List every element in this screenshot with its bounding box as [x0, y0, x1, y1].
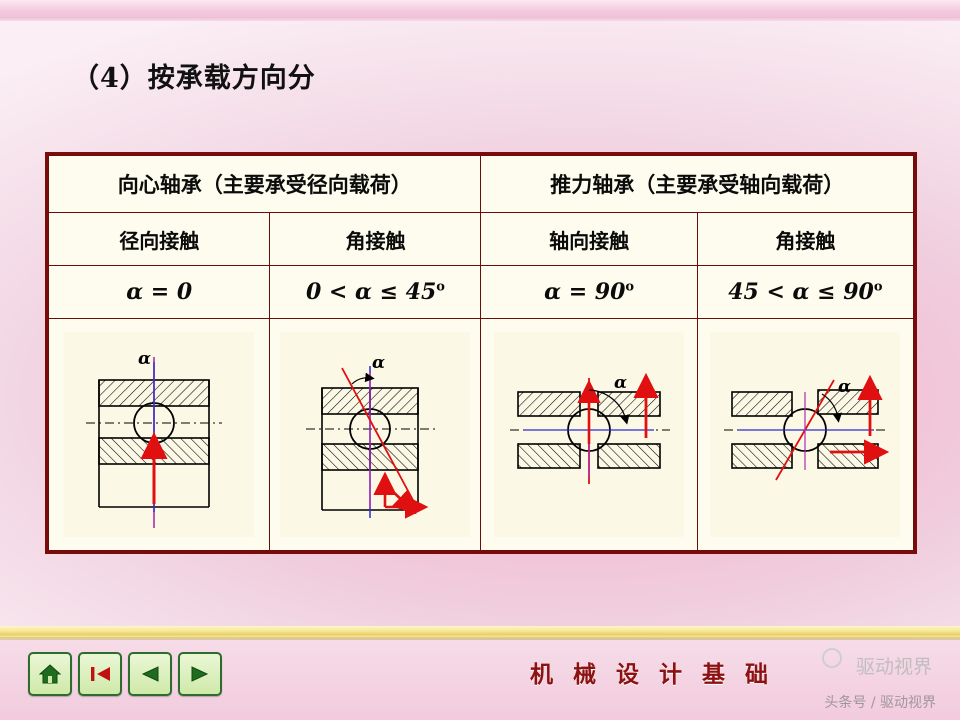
table-row-figures: α — [49, 319, 914, 551]
page-title: （4）按承载方向分 — [72, 56, 316, 95]
figure-cell-1: α — [49, 319, 270, 551]
watermark-subtitle: 头条号 / 驱动视界 — [824, 692, 936, 712]
table-row-formulas: α = 0 0 < α ≤ 45o α = 90o 45 < α ≤ 90o — [49, 266, 914, 319]
radial-contact-bearing-diagram: α — [64, 332, 254, 537]
group-header-radial: 向心轴承（主要承受径向载荷） — [49, 156, 481, 213]
contact-type-radial: 径向接触 — [49, 213, 270, 266]
first-icon — [88, 664, 112, 684]
previous-slide-button[interactable] — [128, 652, 172, 696]
next-icon — [188, 664, 212, 684]
svg-text:α: α — [372, 353, 385, 373]
formula-sup-2: o — [436, 280, 445, 295]
svg-text:α: α — [138, 349, 151, 369]
home-icon — [38, 663, 62, 685]
contact-type-axial: 轴向接触 — [481, 213, 697, 266]
formula-sup-4: o — [874, 280, 883, 295]
watermark-logo-icon — [822, 648, 842, 668]
formula-cell-2: 0 < α ≤ 45o — [270, 266, 481, 319]
contact-type-angular-1: 角接触 — [270, 213, 481, 266]
formula-sup-3: o — [625, 280, 634, 295]
formula-cell-3: α = 90o — [481, 266, 697, 319]
contact-type-angular-2: 角接触 — [697, 213, 913, 266]
figure-cell-4: α — [697, 319, 913, 551]
table-row-contact-types: 径向接触 角接触 轴向接触 角接触 — [49, 213, 914, 266]
footer-course-title: 机 械 设 计 基 础 — [530, 655, 774, 689]
formula-cell-4: 45 < α ≤ 90o — [697, 266, 913, 319]
next-slide-button[interactable] — [178, 652, 222, 696]
formula-text-1: α = 0 — [126, 279, 192, 305]
svg-text:α: α — [838, 377, 851, 397]
angular-contact-bearing-diagram: α — [280, 332, 470, 537]
table-row-group-headers: 向心轴承（主要承受径向载荷） 推力轴承（主要承受轴向载荷） — [49, 156, 914, 213]
bearing-classification-table: 向心轴承（主要承受径向载荷） 推力轴承（主要承受轴向载荷） 径向接触 角接触 轴… — [45, 152, 917, 554]
slide-navigation — [28, 652, 222, 696]
formula-text-4: 45 < α ≤ 90 — [728, 279, 874, 305]
first-slide-button[interactable] — [78, 652, 122, 696]
figure-cell-3: α — [481, 319, 697, 551]
top-decoration-band-shadow — [0, 17, 960, 21]
top-decoration-band — [0, 0, 960, 18]
home-button[interactable] — [28, 652, 72, 696]
formula-text-3: α = 90 — [544, 279, 625, 305]
group-header-thrust: 推力轴承（主要承受轴向载荷） — [481, 156, 914, 213]
thrust-angular-contact-bearing-diagram: α — [710, 332, 900, 537]
figure-cell-2: α — [270, 319, 481, 551]
formula-text-2: 0 < α ≤ 45 — [306, 279, 436, 305]
watermark-name: 驱动视界 — [856, 652, 932, 679]
axial-contact-bearing-diagram: α — [494, 332, 684, 537]
formula-cell-1: α = 0 — [49, 266, 270, 319]
prev-icon — [138, 664, 162, 684]
svg-text:α: α — [614, 373, 627, 393]
